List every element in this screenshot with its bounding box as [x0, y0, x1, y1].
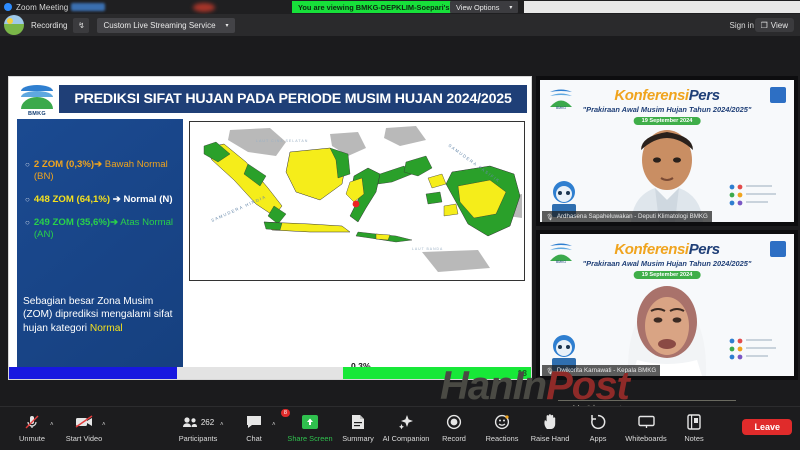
video-tile-speaker-1[interactable]: BMKG KonferensiPers "Prakiraan Awal Musi…	[536, 76, 798, 226]
brand-k: Konferensi	[614, 241, 688, 258]
participants-count: 262	[201, 418, 214, 427]
bullet-value: 2 ZOM (0,3%)	[34, 159, 94, 170]
avatar	[4, 15, 24, 35]
view-options-dropdown[interactable]: View Options ▾	[450, 1, 518, 13]
blurred-indicator	[193, 3, 215, 12]
notes-icon	[666, 412, 722, 432]
toolbar-item-label: Start Video	[56, 434, 112, 443]
titlebar-right-filler	[524, 1, 800, 13]
participant-name-label: 🎙 Ardhasena Sapaheluwakan - Deputi Klima…	[542, 211, 712, 222]
zoom-meeting-window: Zoom Meeting You are viewing BMKG-DEPKLI…	[0, 0, 800, 450]
participant-name: Ardhasena Sapaheluwakan - Deputi Klimato…	[557, 213, 708, 220]
svg-text:LAUT CINA SELATAN: LAUT CINA SELATAN	[256, 139, 308, 143]
slide-footer: 13	[9, 367, 532, 379]
arrow-icon: ➔	[110, 194, 121, 205]
toolbar-item-label: Participants	[170, 434, 226, 443]
stream-icon[interactable]: ↯	[73, 18, 89, 33]
arrow-icon: ➔	[110, 217, 118, 228]
bullet-value: 249 ZOM (35,6%)	[34, 217, 110, 228]
arrow-icon: ➔	[94, 159, 102, 170]
svg-text:LAUT BANDA: LAUT BANDA	[412, 247, 443, 251]
meeting-toolbar: Unmute˄Start Video˄262Participants˄8Chat…	[0, 406, 800, 450]
toolbar-item-label: Chat	[226, 434, 282, 443]
slide-page-number: 13	[517, 367, 527, 379]
speaker-video-person	[608, 264, 726, 376]
footer-blue-bar	[9, 367, 177, 379]
toolbar-item-label: Unmute	[4, 434, 60, 443]
sign-in-button[interactable]: Sign in	[730, 21, 754, 30]
video-tile-speaker-2[interactable]: BMKG KonferensiPers "Prakiraan Awal Musi…	[536, 230, 798, 380]
recording-bar: Recording ↯ Custom Live Streaming Servic…	[0, 14, 800, 36]
toolbar-notes-button[interactable]: Notes	[666, 412, 722, 443]
tile-brand-title: KonferensiPers	[540, 241, 794, 258]
microphone-icon: 🎙	[546, 213, 554, 221]
slide-info-panel: ○ 2 ZOM (0,3%)➔ Bawah Normal (BN) ○ 448 …	[17, 119, 183, 367]
list-item: ○ 448 ZOM (64,1%) ➔ Normal (N)	[25, 194, 177, 206]
participant-name: Dwikorita Karnawati - Kepala BMKG	[557, 367, 656, 374]
list-item: ○ 2 ZOM (0,3%)➔ Bawah Normal (BN)	[25, 159, 177, 183]
virtual-background: BMKG KonferensiPers "Prakiraan Awal Musi…	[540, 234, 794, 376]
chevron-up-icon[interactable]: ˄	[102, 422, 106, 428]
virtual-background: BMKG KonferensiPers "Prakiraan Awal Musi…	[540, 80, 794, 222]
recording-label: Recording	[31, 21, 67, 30]
view-button[interactable]: ❐ View	[755, 18, 794, 32]
footer-grey-bar	[177, 367, 343, 379]
bullet-label: Normal (N)	[121, 194, 173, 205]
watermark-divider	[558, 400, 736, 401]
tile-date-badge: 19 September 2024	[634, 117, 701, 125]
bullet-marker-icon: ○	[25, 217, 30, 241]
window-title: Zoom Meeting	[16, 3, 68, 12]
live-streaming-service-dropdown[interactable]: Custom Live Streaming Service ▾	[97, 18, 234, 33]
chevron-up-icon[interactable]: ˄	[220, 422, 224, 428]
brand-p: Pers	[689, 87, 720, 104]
speaker-video-person	[607, 126, 727, 222]
summary-highlight: Normal	[90, 323, 123, 334]
brand-k: Konferensi	[614, 87, 688, 104]
live-streaming-service-label: Custom Live Streaming Service	[103, 21, 215, 30]
view-button-label: View	[771, 21, 788, 30]
leave-button[interactable]: Leave	[742, 419, 792, 435]
list-item: ○ 249 ZOM (35,6%)➔ Atas Normal (AN)	[25, 217, 177, 241]
chevron-down-icon: ▾	[226, 22, 229, 29]
decorative-dots-icon	[726, 336, 786, 362]
chevron-up-icon[interactable]: ˄	[50, 422, 54, 428]
chevron-up-icon[interactable]: ˄	[272, 422, 276, 428]
summary-text: Sebagian besar Zona Musim (ZOM) dipredik…	[23, 295, 181, 335]
bullet-marker-icon: ○	[25, 194, 30, 206]
toolbar-start-video-button[interactable]: Start Video˄	[56, 412, 112, 443]
participant-name-label: 🎙 Dwikorita Karnawati - Kepala BMKG	[542, 365, 660, 376]
shared-slide: BMKG PREDIKSI SIFAT HUJAN PADA PERIODE M…	[8, 76, 532, 380]
toolbar-participants-button[interactable]: 262Participants˄	[170, 412, 226, 443]
footer-green-bar: 13	[343, 367, 532, 379]
microphone-icon: 🎙	[546, 367, 554, 375]
toolbar-chat-button[interactable]: 8Chat˄	[226, 412, 282, 443]
toolbar-unmute-button[interactable]: Unmute˄	[4, 412, 60, 443]
bullet-list: ○ 2 ZOM (0,3%)➔ Bawah Normal (BN) ○ 448 …	[25, 159, 177, 252]
tile-brand-title: KonferensiPers	[540, 87, 794, 104]
map-graphic: SAMUDERA HINDIA SAMUDERA PASIFIK LAUT CI…	[190, 122, 524, 280]
participants-icon: 262	[170, 412, 226, 432]
bmkg-logo-text: BMKG	[17, 111, 57, 117]
bmkg-logo-icon: BMKG	[17, 83, 57, 117]
zoom-logo-icon	[4, 3, 12, 11]
view-options-label: View Options	[456, 3, 499, 12]
page-title: PREDIKSI SIFAT HUJAN PADA PERIODE MUSIM …	[59, 85, 527, 113]
decorative-dots-icon	[726, 182, 786, 208]
bullet-marker-icon: ○	[25, 159, 30, 183]
view-layout-icon: ❐	[761, 21, 768, 30]
toolbar-item-label: Notes	[666, 434, 722, 443]
blurred-meeting-id	[71, 3, 105, 11]
brand-p: Pers	[689, 241, 720, 258]
bullet-value: 448 ZOM (64,1%)	[34, 194, 110, 205]
chevron-down-icon: ▾	[509, 4, 512, 11]
indonesia-rainfall-map: SAMUDERA HINDIA SAMUDERA PASIFIK LAUT CI…	[189, 121, 525, 281]
tile-subtitle: "Prakiraan Awal Musim Hujan Tahun 2024/2…	[540, 105, 794, 114]
